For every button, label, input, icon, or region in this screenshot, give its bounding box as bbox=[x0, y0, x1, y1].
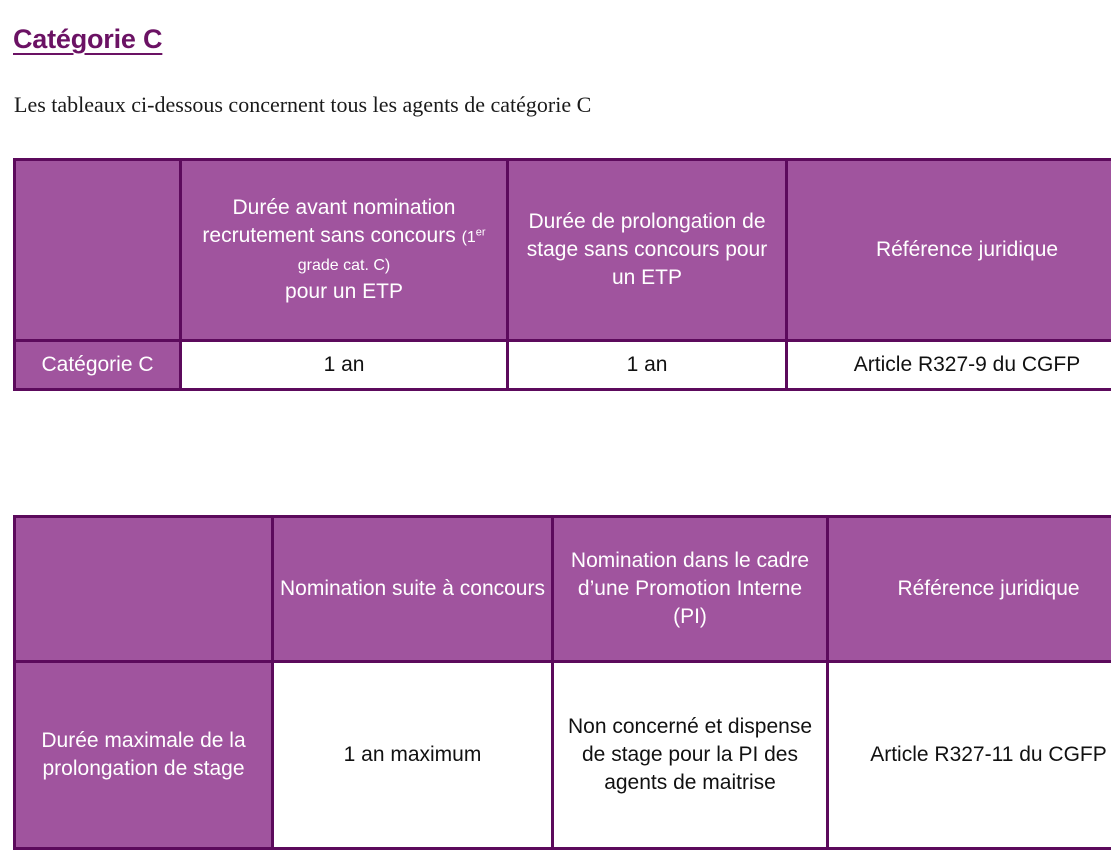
table-header-row: Durée avant nomination recrutement sans … bbox=[15, 160, 1111, 341]
page-title: Catégorie C bbox=[13, 24, 162, 55]
header-note-superscript: er bbox=[476, 227, 486, 239]
header-cell-extension-duration: Durée de prolongation de stage sans conc… bbox=[508, 160, 787, 341]
row-label-max-extension-duration: Durée maximale de la prolongation de sta… bbox=[15, 662, 273, 849]
table-stage-extension: Nomination suite à concours Nomination d… bbox=[13, 515, 1111, 850]
row-label-categorie-c: Catégorie C bbox=[15, 341, 181, 390]
header-tail-text: pour un ETP bbox=[285, 280, 403, 303]
table-stage-duration: Durée avant nomination recrutement sans … bbox=[13, 158, 1111, 391]
cell-after-competition: 1 an maximum bbox=[273, 662, 553, 849]
header-cell-corner bbox=[15, 160, 181, 341]
header-cell-duration-before-nomination: Durée avant nomination recrutement sans … bbox=[181, 160, 508, 341]
header-cell-nomination-internal-promotion: Nomination dans le cadre d’une Promotion… bbox=[553, 517, 828, 662]
table-row: Durée maximale de la prolongation de sta… bbox=[15, 662, 1111, 849]
table-row: Catégorie C 1 an 1 an Article R327-9 du … bbox=[15, 341, 1111, 390]
header-cell-legal-reference: Référence juridique bbox=[828, 517, 1111, 662]
table-header-row: Nomination suite à concours Nomination d… bbox=[15, 517, 1111, 662]
cell-extension-duration: 1 an bbox=[508, 341, 787, 390]
cell-legal-reference: Article R327-9 du CGFP bbox=[787, 341, 1111, 390]
header-note-prefix: (1 bbox=[462, 229, 476, 246]
intro-paragraph: Les tableaux ci-dessous concernent tous … bbox=[14, 92, 591, 118]
header-cell-corner bbox=[15, 517, 273, 662]
cell-legal-reference: Article R327-11 du CGFP bbox=[828, 662, 1111, 849]
cell-duration-before-nomination: 1 an bbox=[181, 341, 508, 390]
cell-internal-promotion: Non concerné et dispense de stage pour l… bbox=[553, 662, 828, 849]
header-note-suffix: grade cat. C) bbox=[298, 257, 390, 274]
header-main-text: Durée avant nomination recrutement sans … bbox=[202, 196, 455, 247]
header-cell-legal-reference: Référence juridique bbox=[787, 160, 1111, 341]
header-cell-nomination-after-competition: Nomination suite à concours bbox=[273, 517, 553, 662]
